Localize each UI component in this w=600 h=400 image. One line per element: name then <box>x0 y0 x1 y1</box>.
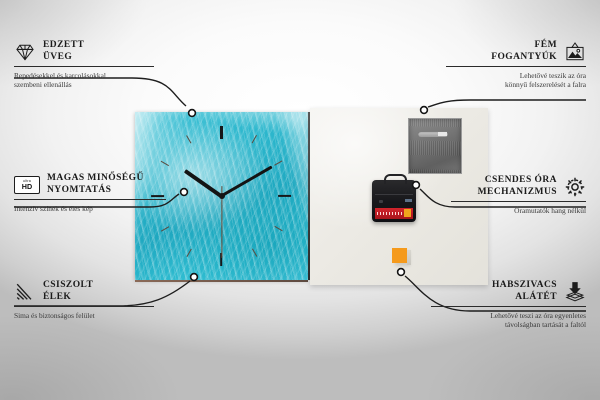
ultra-hd-icon: ultra HD <box>14 176 40 194</box>
arrow-down-onto-pad-icon <box>564 281 586 303</box>
feature-description: Repedésekkel és karcolásokkal szembeni e… <box>14 71 154 89</box>
feature-title: CSENDES ÓRA MECHANIZMUS <box>478 175 557 198</box>
feature-polished-edges: CSISZOLT ÉLEK Sima és biztonságos felüle… <box>14 280 154 320</box>
feature-header: FÉM FOGANTYÚK <box>446 40 586 63</box>
feature-title: EDZETT ÜVEG <box>43 40 84 63</box>
picture-hanger-icon <box>564 41 586 63</box>
hanger-slot <box>418 131 448 137</box>
feature-description: Lehetővé teszi az óra egyenletes távolsá… <box>431 311 586 329</box>
clock-tick <box>220 126 222 139</box>
gear-icon <box>564 176 586 198</box>
divider <box>14 306 154 307</box>
feature-header: CSISZOLT ÉLEK <box>14 280 154 303</box>
glass-bottom-edge <box>135 280 308 282</box>
feature-title: MAGAS MINŐSÉGŰ NYOMTATÁS <box>47 173 144 196</box>
feature-description: Óramutatók hang nélkül <box>451 206 586 215</box>
feature-header: HABSZIVACS ALÁTÉT <box>431 280 586 303</box>
beveled-edge-icon <box>14 281 36 303</box>
feature-title: CSISZOLT ÉLEK <box>43 280 93 303</box>
divider <box>431 306 586 307</box>
feature-tempered-glass: EDZETT ÜVEG Repedésekkel és karcolásokka… <box>14 40 154 89</box>
feature-description: Lehetővé teszik az óra könnyű felszerelé… <box>446 71 586 89</box>
mechanism-label <box>405 199 412 202</box>
feature-foam-spacer: HABSZIVACS ALÁTÉT Lehetővé teszi az óra … <box>431 280 586 329</box>
mechanism-hook <box>384 174 407 184</box>
battery-band <box>377 212 403 215</box>
feature-description: Intenzív színek és éles kép <box>14 204 166 213</box>
diamond-icon <box>14 41 36 63</box>
feature-title: HABSZIVACS ALÁTÉT <box>492 280 557 303</box>
feature-high-quality-print: ultra HD MAGAS MINŐSÉGŰ NYOMTATÁS Intenz… <box>14 173 166 213</box>
divider <box>14 66 154 67</box>
feature-header: EDZETT ÜVEG <box>14 40 154 63</box>
clock-tick <box>278 195 291 197</box>
feature-title: FÉM FOGANTYÚK <box>491 40 557 63</box>
divider <box>446 66 586 67</box>
mechanism-port <box>379 200 383 203</box>
divider <box>14 199 166 200</box>
foam-spacer-pad <box>392 248 407 263</box>
leader-line-metal-handles <box>428 100 586 107</box>
clock-center-hub <box>219 193 225 199</box>
feature-description: Sima és biztonságos felület <box>14 311 154 320</box>
aa-battery <box>375 208 413 219</box>
infographic-canvas: EDZETT ÜVEG Repedésekkel és karcolásokka… <box>0 0 600 400</box>
feature-metal-handles: FÉM FOGANTYÚK Lehetővé teszik az óra kön… <box>446 40 586 89</box>
feature-header: ultra HD MAGAS MINŐSÉGŰ NYOMTATÁS <box>14 173 166 196</box>
mechanism-seam <box>375 194 413 195</box>
feature-silent-mechanism: CSENDES ÓRA MECHANIZMUS Óramutatók hang … <box>451 175 586 215</box>
feature-header: CSENDES ÓRA MECHANIZMUS <box>451 175 586 198</box>
divider <box>451 201 586 202</box>
battery-positive-terminal <box>404 209 411 217</box>
clock-mechanism-module <box>372 180 416 222</box>
metal-hanger-plate <box>408 118 462 174</box>
